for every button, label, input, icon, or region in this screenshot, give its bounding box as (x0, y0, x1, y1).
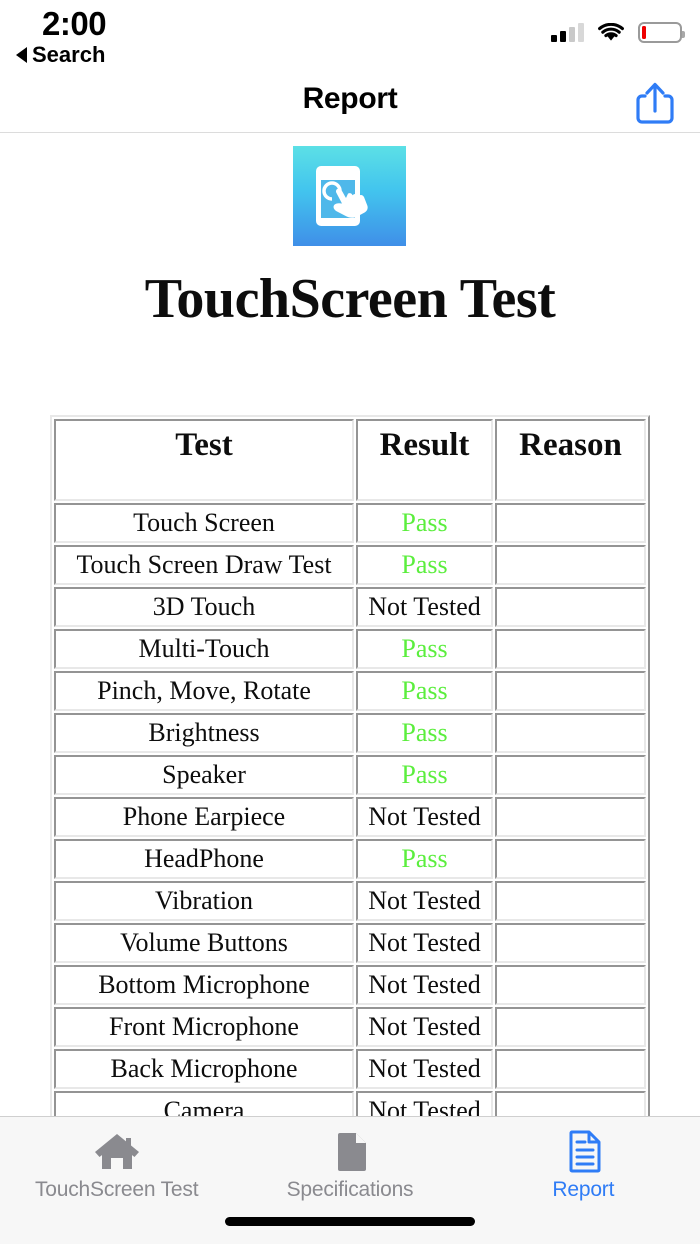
cell-test: Volume Buttons (54, 923, 354, 963)
table-row: VibrationNot Tested (54, 881, 646, 921)
cell-reason (495, 797, 646, 837)
navigation-bar: Report (0, 68, 700, 133)
cell-result: Not Tested (356, 1049, 493, 1089)
cell-test: Speaker (54, 755, 354, 795)
cell-result: Pass (356, 503, 493, 543)
cell-reason (495, 713, 646, 753)
back-triangle-icon (16, 47, 27, 63)
cell-reason (495, 629, 646, 669)
table-row: Back MicrophoneNot Tested (54, 1049, 646, 1089)
cell-test: Pinch, Move, Rotate (54, 671, 354, 711)
table-row: Touch ScreenPass (54, 503, 646, 543)
cell-test: Touch Screen Draw Test (54, 545, 354, 585)
cell-result: Pass (356, 671, 493, 711)
table-row: 3D TouchNot Tested (54, 587, 646, 627)
battery-low-icon (638, 22, 682, 43)
home-indicator (225, 1217, 475, 1226)
table-row: SpeakerPass (54, 755, 646, 795)
cell-test: Touch Screen (54, 503, 354, 543)
status-bar: 2:00 Search (0, 0, 700, 68)
report-table: Test Result Reason Touch ScreenPassTouch… (50, 415, 650, 1177)
document-icon (324, 1127, 376, 1175)
cell-test: Front Microphone (54, 1007, 354, 1047)
app-title: TouchScreen Test (0, 267, 700, 331)
cell-reason (495, 545, 646, 585)
cell-test: Phone Earpiece (54, 797, 354, 837)
cell-result: Pass (356, 755, 493, 795)
cellular-signal-icon (551, 24, 584, 42)
table-row: BrightnessPass (54, 713, 646, 753)
table-row: HeadPhonePass (54, 839, 646, 879)
home-icon (91, 1127, 143, 1175)
cell-result: Not Tested (356, 587, 493, 627)
cell-reason (495, 1007, 646, 1047)
tab-touchscreen-test[interactable]: TouchScreen Test (0, 1127, 233, 1202)
table-row: Front MicrophoneNot Tested (54, 1007, 646, 1047)
status-bar-indicators (551, 22, 682, 43)
cell-reason (495, 1049, 646, 1089)
back-to-search-label: Search (32, 42, 105, 68)
back-to-search-indicator[interactable]: Search (16, 42, 105, 68)
cell-test: 3D Touch (54, 587, 354, 627)
table-header-row: Test Result Reason (54, 419, 646, 501)
cell-reason (495, 755, 646, 795)
table-row: Multi-TouchPass (54, 629, 646, 669)
cell-reason (495, 923, 646, 963)
cell-result: Pass (356, 713, 493, 753)
tab-label-touchscreen-test: TouchScreen Test (35, 1178, 198, 1202)
cell-result: Not Tested (356, 1007, 493, 1047)
cell-test: Back Microphone (54, 1049, 354, 1089)
column-header-reason: Reason (495, 419, 646, 501)
cell-reason (495, 881, 646, 921)
tab-bar: TouchScreen Test Specifications Report (0, 1116, 700, 1244)
cell-result: Pass (356, 839, 493, 879)
cell-result: Not Tested (356, 881, 493, 921)
report-table-header: Test Result Reason (54, 419, 646, 501)
cell-result: Not Tested (356, 923, 493, 963)
document-lines-icon (557, 1127, 609, 1175)
cell-reason (495, 587, 646, 627)
cell-test: Vibration (54, 881, 354, 921)
tab-report[interactable]: Report (467, 1127, 700, 1202)
cell-result: Pass (356, 629, 493, 669)
cell-result: Not Tested (356, 797, 493, 837)
app-screen: 2:00 Search Report (0, 0, 700, 1244)
touchscreen-app-icon (293, 146, 406, 246)
tab-label-report: Report (552, 1178, 614, 1202)
column-header-test: Test (54, 419, 354, 501)
cell-result: Not Tested (356, 965, 493, 1005)
cell-reason (495, 671, 646, 711)
share-icon (634, 80, 676, 126)
cell-test: HeadPhone (54, 839, 354, 879)
report-content[interactable]: TouchScreen Test Test Result Reason Touc… (0, 133, 700, 1244)
tab-label-specifications: Specifications (287, 1178, 414, 1202)
table-row: Pinch, Move, RotatePass (54, 671, 646, 711)
cell-test: Bottom Microphone (54, 965, 354, 1005)
table-row: Volume ButtonsNot Tested (54, 923, 646, 963)
cell-reason (495, 965, 646, 1005)
cell-reason (495, 839, 646, 879)
cell-test: Multi-Touch (54, 629, 354, 669)
table-row: Bottom MicrophoneNot Tested (54, 965, 646, 1005)
share-button[interactable] (634, 80, 676, 126)
column-header-result: Result (356, 419, 493, 501)
report-table-body: Touch ScreenPassTouch Screen Draw TestPa… (54, 503, 646, 1173)
table-row: Phone EarpieceNot Tested (54, 797, 646, 837)
table-row: Touch Screen Draw TestPass (54, 545, 646, 585)
status-bar-time: 2:00 (42, 5, 106, 43)
page-title: Report (0, 82, 700, 116)
cell-result: Pass (356, 545, 493, 585)
wifi-icon (597, 23, 625, 43)
tab-specifications[interactable]: Specifications (233, 1127, 466, 1202)
cell-reason (495, 503, 646, 543)
cell-test: Brightness (54, 713, 354, 753)
